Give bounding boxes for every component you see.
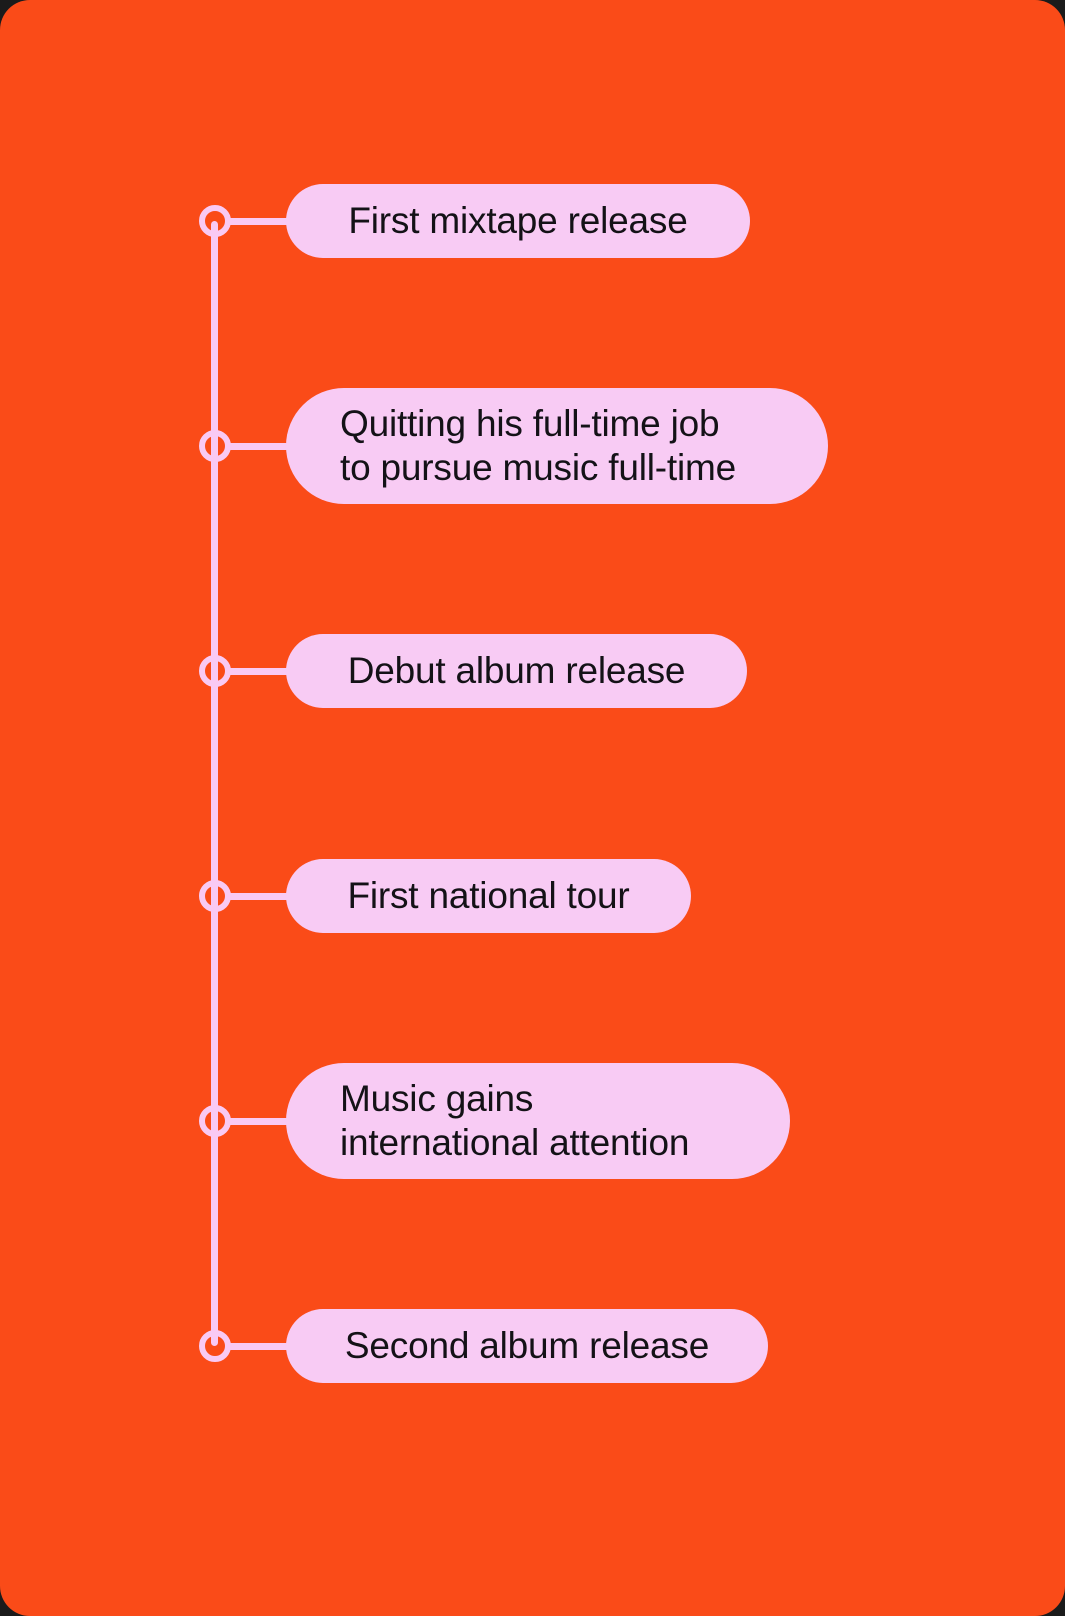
timeline-node-circle-4[interactable] [199, 880, 231, 912]
timeline-pill-label-1: First mixtape release [348, 199, 687, 243]
timeline-pill-label-3: Debut album release [348, 649, 686, 693]
timeline-node-circle-1[interactable] [199, 205, 231, 237]
timeline-node-circle-5[interactable] [199, 1105, 231, 1137]
timeline-node-circle-6[interactable] [199, 1330, 231, 1362]
timeline-pill-6[interactable]: Second album release [286, 1309, 768, 1383]
timeline-spine-line [211, 221, 218, 1346]
timeline-connector-2 [230, 443, 290, 450]
timeline-pill-label-5: Music gains international attention [340, 1077, 689, 1165]
timeline-node-circle-3[interactable] [199, 655, 231, 687]
timeline-connector-6 [230, 1343, 290, 1350]
timeline-canvas: First mixtape release Quitting his full-… [0, 0, 1065, 1616]
timeline-pill-5[interactable]: Music gains international attention [286, 1063, 790, 1179]
timeline-pill-label-2: Quitting his full-time job to pursue mus… [340, 402, 736, 490]
timeline-pill-label-6: Second album release [345, 1324, 709, 1368]
timeline-pill-3[interactable]: Debut album release [286, 634, 747, 708]
timeline-pill-4[interactable]: First national tour [286, 859, 691, 933]
timeline-pill-1[interactable]: First mixtape release [286, 184, 750, 258]
timeline-pill-2[interactable]: Quitting his full-time job to pursue mus… [286, 388, 828, 504]
timeline-connector-4 [230, 893, 290, 900]
timeline-connector-1 [230, 218, 290, 225]
timeline-connector-3 [230, 668, 290, 675]
timeline-node-circle-2[interactable] [199, 430, 231, 462]
timeline-connector-5 [230, 1118, 290, 1125]
timeline-pill-label-4: First national tour [347, 874, 629, 918]
